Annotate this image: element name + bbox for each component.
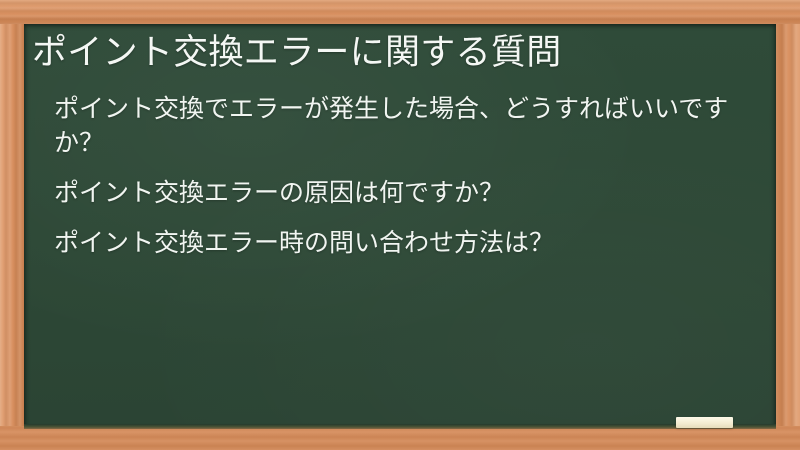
question-list: ポイント交換でエラーが発生した場合、どうすればいいですか？ ポイント交換エラーの… (32, 74, 760, 260)
chalkboard-surface: ポイント交換エラーに関する質問 ポイント交換でエラーが発生した場合、どうすればい… (24, 24, 776, 428)
page-title: ポイント交換エラーに関する質問 (32, 28, 760, 74)
frame-rail-top (0, 0, 800, 24)
chalkboard-bottom-edge (24, 424, 776, 429)
frame-rail-left (0, 0, 24, 450)
list-item: ポイント交換エラー時の問い合わせ方法は？ (32, 226, 760, 260)
blackboard-frame: ポイント交換エラーに関する質問 ポイント交換でエラーが発生した場合、どうすればい… (0, 0, 800, 450)
frame-rail-bottom-ledge (0, 426, 800, 450)
list-item: ポイント交換でエラーが発生した場合、どうすればいいですか？ (32, 92, 760, 176)
chalk-stick-icon (676, 417, 733, 428)
frame-rail-right (776, 0, 800, 450)
content-area: ポイント交換エラーに関する質問 ポイント交換でエラーが発生した場合、どうすればい… (32, 28, 760, 260)
list-item: ポイント交換エラーの原因は何ですか？ (32, 176, 760, 226)
